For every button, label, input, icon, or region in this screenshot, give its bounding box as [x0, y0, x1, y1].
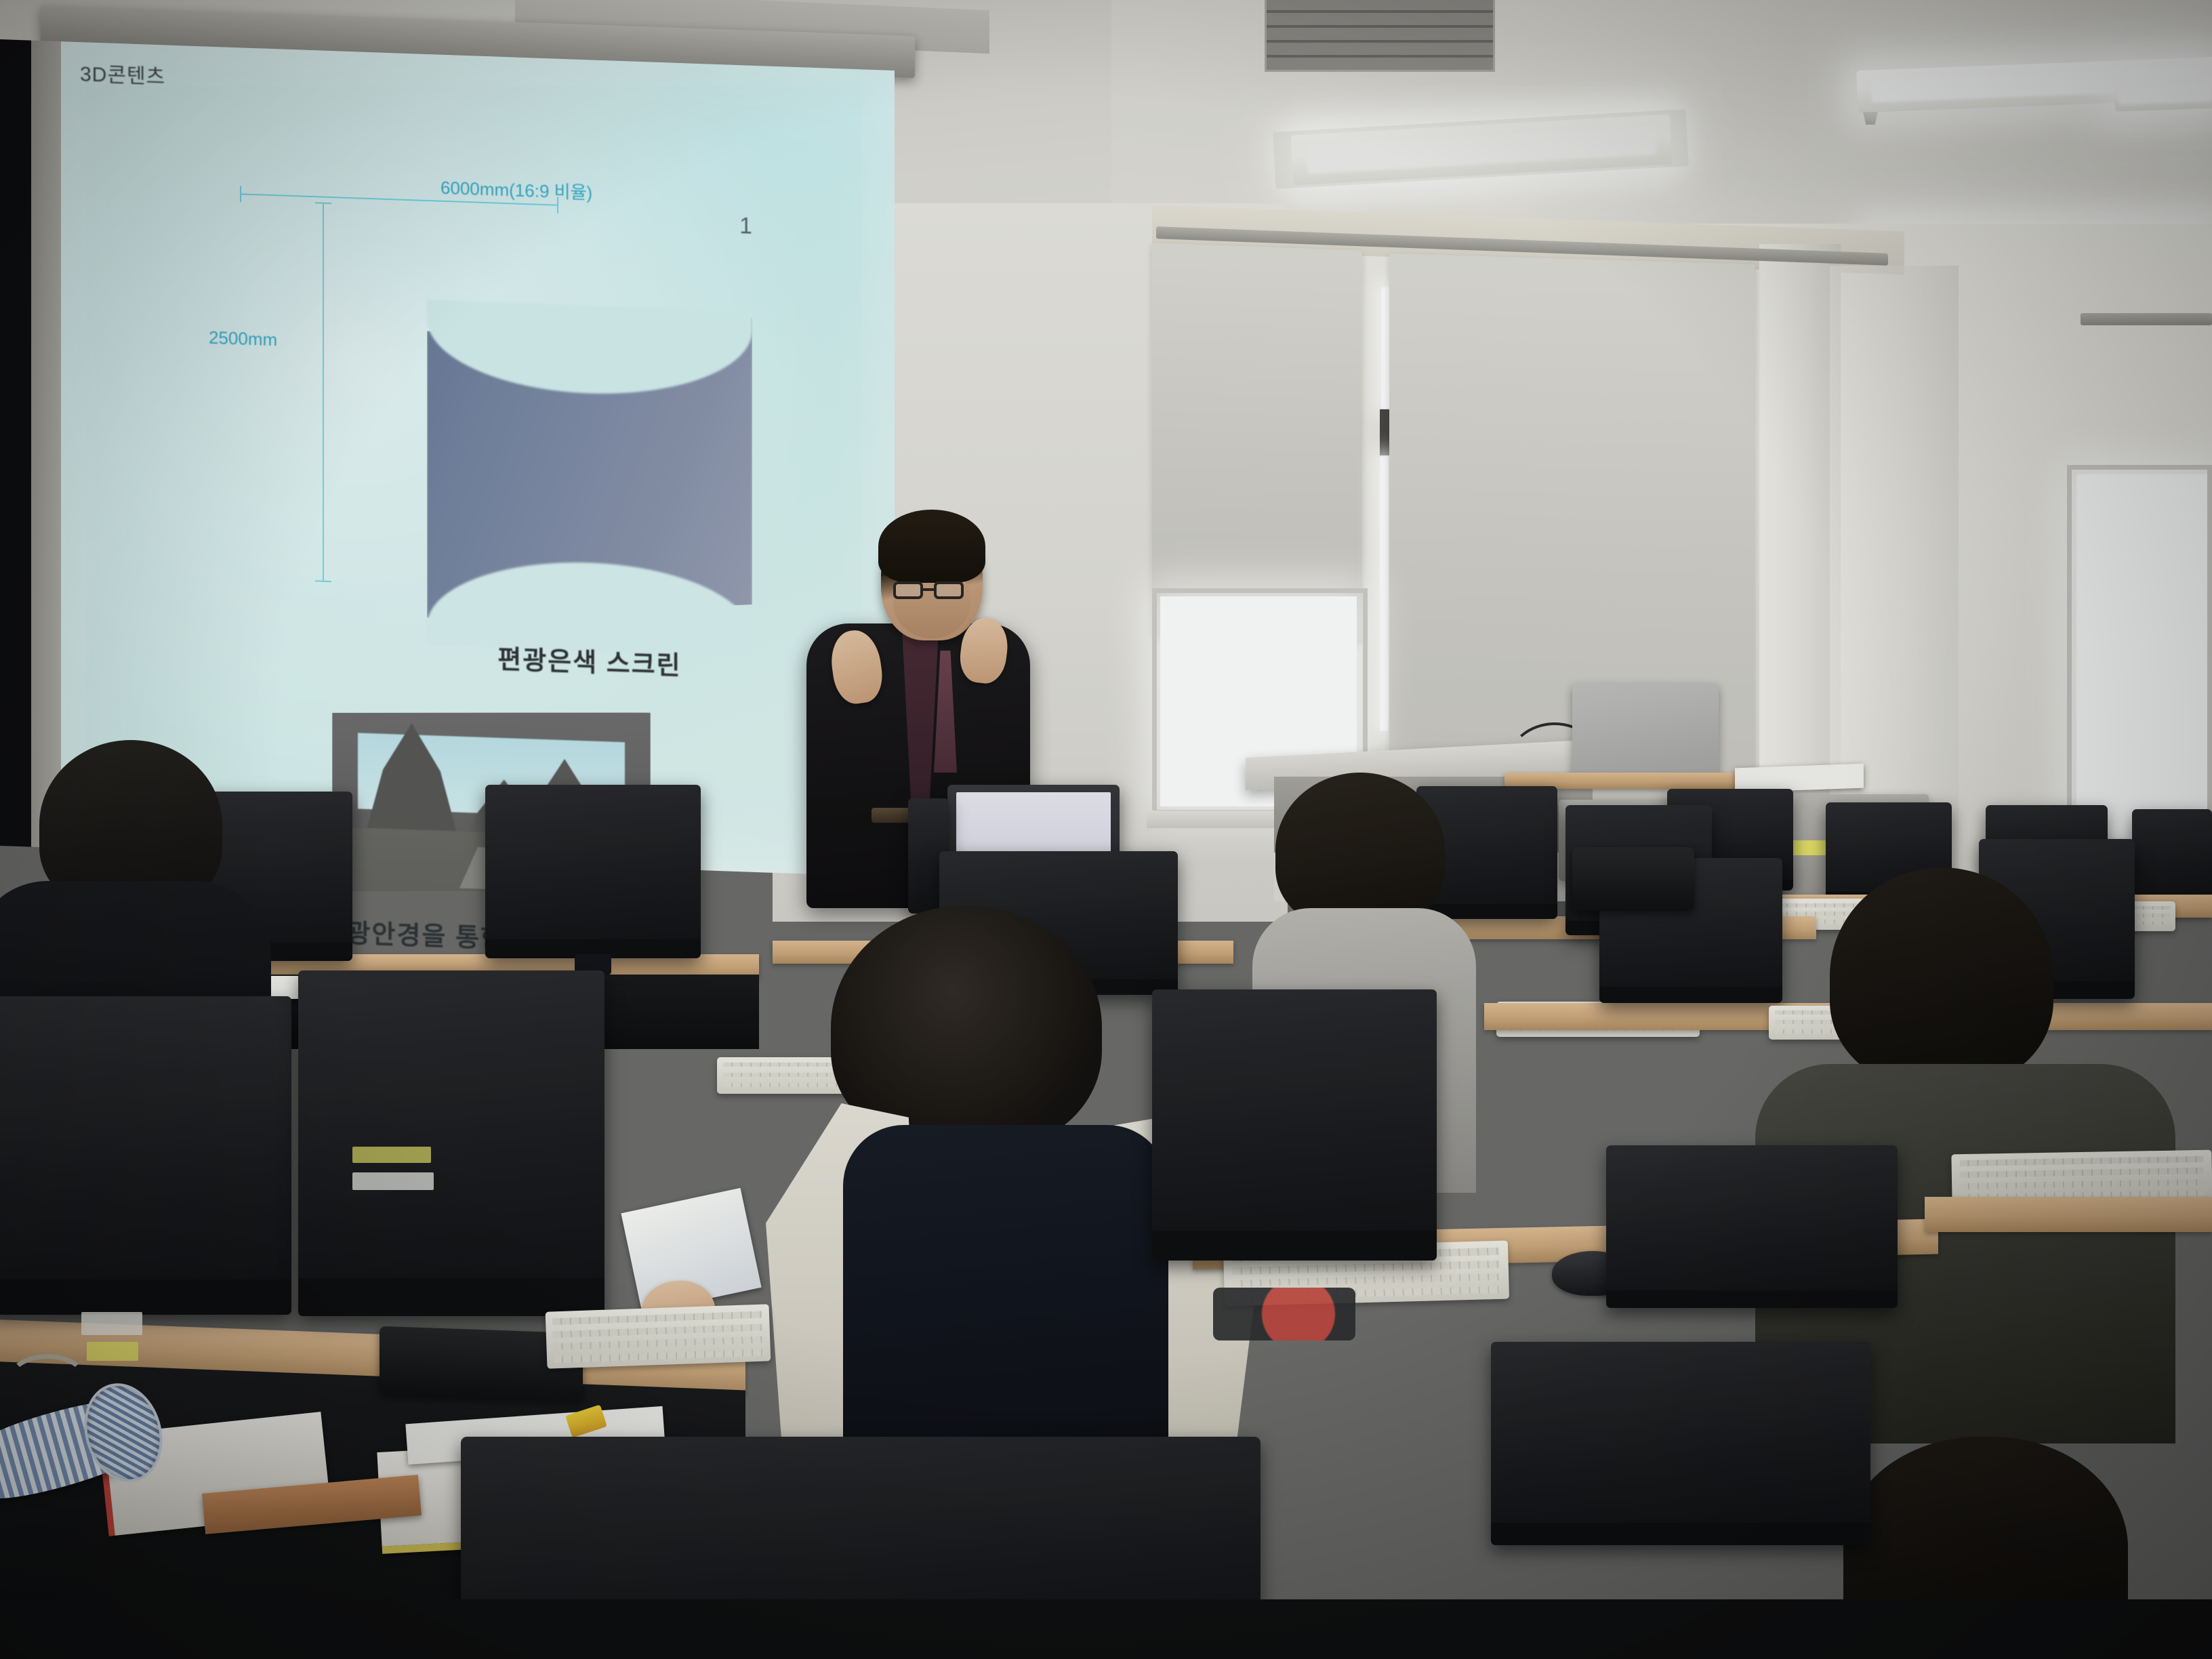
ceiling-light-4 — [2114, 77, 2212, 111]
keyboard-foreground — [546, 1304, 771, 1368]
classroom-photo: 3D콘텐츠 1 6000mm(16:9 비율) 2500mm 편광은색 스크린 … — [0, 0, 2212, 1659]
monitor-back-4 — [2132, 809, 2212, 904]
monitor-row2-1 — [485, 785, 701, 958]
monitor-sticker-white — [81, 1312, 142, 1335]
cabinet-sticker — [1789, 840, 1830, 855]
monitor-label — [352, 1172, 434, 1190]
ceiling-vent — [1265, 0, 1495, 72]
dimension-label-horizontal: 6000mm(16:9 비율) — [441, 174, 592, 205]
slide-header: 3D콘텐츠 — [80, 57, 165, 89]
glasses-icon — [893, 581, 923, 599]
mousepad — [1213, 1288, 1355, 1340]
monitor-foreground-bottom-right — [1491, 1342, 1870, 1545]
student-right-hair — [1830, 867, 2053, 1084]
monitor-foreground-2 — [298, 970, 605, 1316]
desk-shadow-bottom — [0, 1599, 2212, 1659]
student-center-body — [843, 1125, 1168, 1477]
printer-paper-stack — [1735, 764, 1864, 793]
monitor-label-2 — [352, 1147, 431, 1163]
monitor-foreground-4 — [1606, 1145, 1898, 1308]
student-mid-right-hair — [1275, 773, 1445, 928]
screen-left-edge — [0, 39, 31, 847]
blind-rail-right — [2081, 313, 2212, 325]
window-frame-right — [2067, 465, 2212, 848]
dimension-label-vertical: 2500mm — [209, 327, 277, 351]
glasses-icon-right — [934, 581, 964, 599]
dimension-line-vertical — [323, 203, 324, 582]
monitor-sticker-yellow — [87, 1342, 138, 1361]
desk-foreground-far-right — [1925, 1197, 2212, 1232]
lecturer-hair — [878, 510, 985, 583]
bag-on-desk — [1572, 847, 1694, 911]
glasses-bridge — [922, 588, 935, 591]
blind-light-gap-bottom — [1380, 457, 1388, 731]
macbook-lid — [1572, 683, 1719, 778]
screen-border — [31, 41, 61, 848]
projected-slide: 3D콘텐츠 1 6000mm(16:9 비율) 2500mm 편광은색 스크린 … — [61, 41, 895, 877]
monitor-foreground-1 — [0, 996, 291, 1315]
roller-blind-left — [1152, 243, 1362, 643]
blind-light-gap-top — [1381, 287, 1389, 408]
tube-strap — [7, 1354, 88, 1408]
slide-page-number: 1 — [739, 213, 752, 240]
monitor-foreground-3 — [1152, 989, 1437, 1261]
